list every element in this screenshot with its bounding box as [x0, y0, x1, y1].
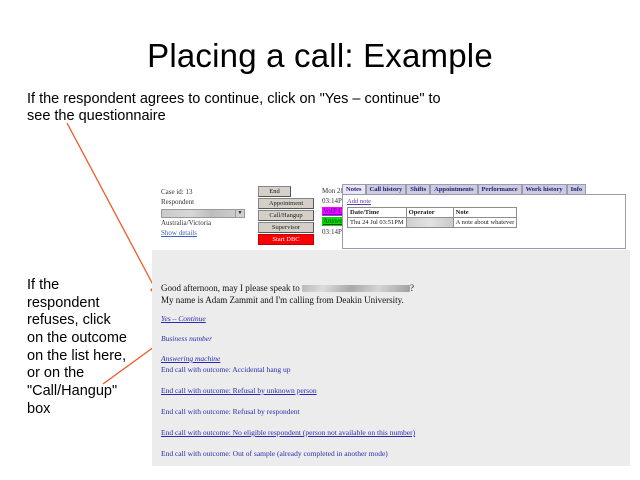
page-title: Placing a call: Example [0, 38, 640, 74]
link-yes-continue[interactable]: Yes – Continue [161, 314, 220, 323]
tab-strip: Notes Call history Shifts Appointments P… [342, 184, 626, 194]
appointment-button[interactable]: Appointment [258, 198, 314, 209]
call-hangup-button[interactable]: Call/Hangup [258, 210, 314, 221]
tab-notes[interactable]: Notes [342, 184, 366, 194]
tab-appointments[interactable]: Appointments [430, 184, 477, 194]
case-info-block: Case id: 13 Respondent ▼ Australia/Victo… [161, 188, 253, 239]
table-header-row: Date/Time Operator Note [348, 208, 517, 218]
notes-table: Date/Time Operator Note Thu 24 Jul 03:51… [347, 207, 517, 228]
tab-call-history[interactable]: Call history [366, 184, 407, 194]
link-outcome-out-of-sample[interactable]: End call with outcome: Out of sample (al… [161, 449, 415, 458]
tab-performance[interactable]: Performance [478, 184, 522, 194]
script-line-1-before: Good afternoon, may I please speak to [161, 283, 302, 293]
embedded-app-screenshot: Case id: 13 Respondent ▼ Australia/Victo… [152, 182, 630, 466]
link-outcome-refusal-unknown-person[interactable]: End call with outcome: Refusal by unknow… [161, 386, 415, 395]
redacted-name [302, 285, 410, 292]
column-operator: Operator [406, 208, 453, 218]
supervisor-button[interactable]: Supervisor [258, 222, 314, 233]
end-call-outcome-links: End call with outcome: Accidental hang u… [161, 365, 415, 466]
link-outcome-no-eligible-respondent[interactable]: End call with outcome: No eligible respo… [161, 428, 415, 437]
link-answering-machine[interactable]: Answering machine [161, 354, 220, 363]
respondent-label: Respondent [161, 198, 253, 208]
script-line-1: Good afternoon, may I please speak to ? [161, 282, 621, 294]
case-id-label: Case id: 13 [161, 188, 253, 198]
link-outcome-refusal-respondent[interactable]: End call with outcome: Refusal by respon… [161, 407, 415, 416]
column-datetime: Date/Time [348, 208, 407, 218]
add-note-link[interactable]: Add note [347, 198, 621, 205]
cell-datetime: Thu 24 Jul 03:51PM [348, 218, 407, 228]
script-line-1-after: ? [410, 283, 414, 293]
respondent-select[interactable]: ▼ [161, 209, 245, 218]
region-label: Australia/Victoria [161, 219, 253, 229]
script-line-2: My name is Adam Zammit and I'm calling f… [161, 294, 621, 306]
cell-operator-redacted [406, 218, 453, 228]
column-note: Note [453, 208, 517, 218]
tab-shifts[interactable]: Shifts [406, 184, 430, 194]
tab-work-history[interactable]: Work history [522, 184, 567, 194]
cell-note: A note about whatever [453, 218, 517, 228]
call-control-buttons: End Appointment Call/Hangup Supervisor S… [258, 186, 318, 246]
callout-text-left: If the respondent refuses, click on the … [27, 277, 127, 419]
link-outcome-accidental-hangup[interactable]: End call with outcome: Accidental hang u… [161, 365, 415, 374]
show-details-link[interactable]: Show details [161, 229, 253, 239]
notes-tab-content: Add note Date/Time Operator Note Thu 24 … [342, 194, 626, 249]
chevron-down-icon[interactable]: ▼ [235, 210, 244, 217]
end-button[interactable]: End [258, 186, 291, 197]
detail-tab-panel: Notes Call history Shifts Appointments P… [342, 184, 626, 250]
callout-text-top: If the respondent agrees to continue, cl… [27, 91, 457, 125]
table-row[interactable]: Thu 24 Jul 03:51PM A note about whatever [348, 218, 517, 228]
call-script-area: Good afternoon, may I please speak to ? … [161, 282, 621, 306]
link-business-number[interactable]: Business number [161, 334, 220, 343]
start-dbc-button[interactable]: Start DBC [258, 234, 314, 245]
tab-info[interactable]: Info [567, 184, 587, 194]
